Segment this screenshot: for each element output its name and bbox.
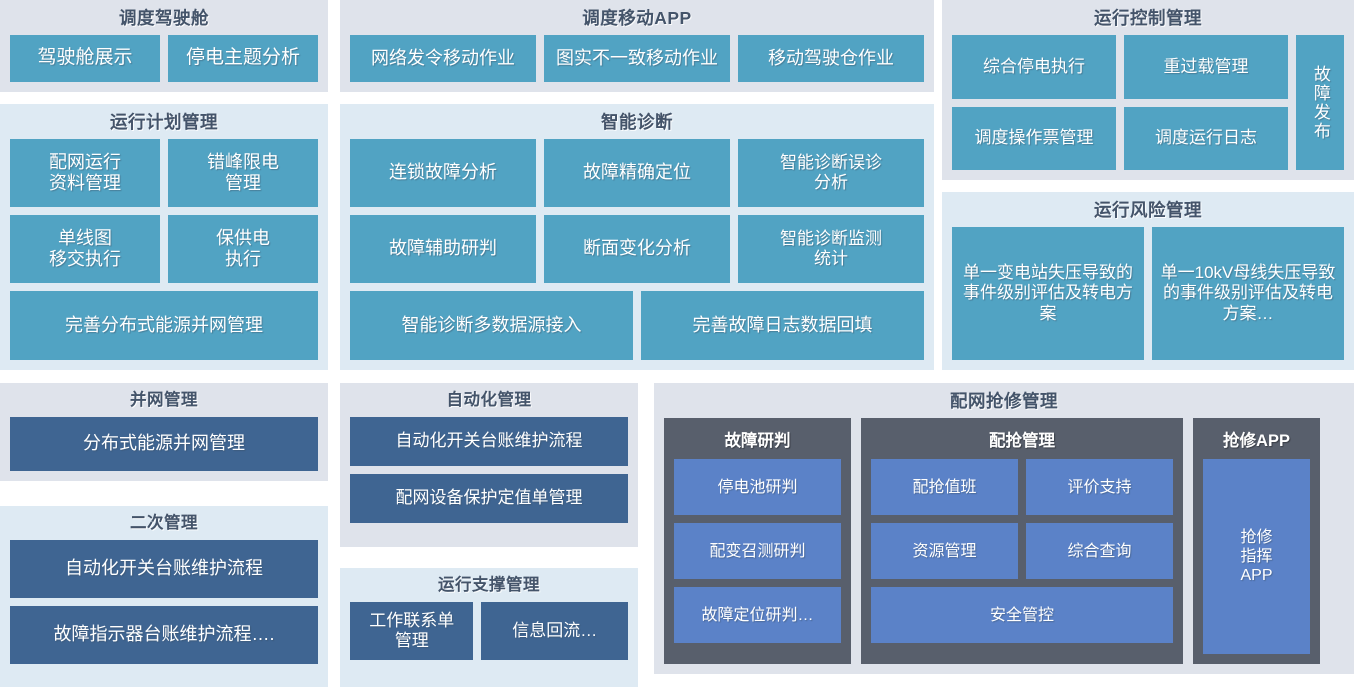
panel-title-operation-support: 运行支撑管理 — [350, 576, 628, 595]
panel-secondary-management: 二次管理 自动化开关台账维护流程 故障指示器台账维护流程…. — [0, 506, 328, 687]
tile-fault-assisted-judgement[interactable]: 故障辅助研判 — [350, 215, 536, 283]
subpanel-repair-app: 抢修APP 抢修 指挥 APP — [1193, 418, 1320, 664]
tile-smart-diagnosis-misdiagnosis-analysis[interactable]: 智能诊断误诊 分析 — [738, 139, 924, 207]
tile-information-backflow[interactable]: 信息回流… — [481, 602, 628, 660]
tile-mobile-cockpit-work[interactable]: 移动驾驶仓作业 — [738, 35, 924, 82]
subpanel-fault-analysis: 故障研判 停电池研判 配变召测研判 故障定位研判… — [664, 418, 851, 664]
tile-comprehensive-query[interactable]: 综合查询 — [1026, 523, 1173, 579]
tile-auto-switch-ledger-maintenance-process[interactable]: 自动化开关台账维护流程 — [350, 417, 628, 466]
tile-repair-command-app[interactable]: 抢修 指挥 APP — [1203, 459, 1310, 654]
subpanel-title-fault-analysis: 故障研判 — [674, 427, 841, 451]
tile-fault-location-judgement[interactable]: 故障定位研判… — [674, 587, 841, 643]
tile-precise-fault-location[interactable]: 故障精确定位 — [544, 139, 730, 207]
tile-outage-pool-judgement[interactable]: 停电池研判 — [674, 459, 841, 515]
tile-fault-release[interactable]: 故障发布 — [1296, 35, 1344, 170]
panel-title-operation-risk: 运行风险管理 — [952, 200, 1344, 220]
panel-title-dispatch-mobile-app: 调度移动APP — [350, 8, 924, 28]
tile-automation-switch-ledger-maintenance-process[interactable]: 自动化开关台账维护流程 — [10, 540, 318, 598]
tile-cascading-fault-analysis[interactable]: 连锁故障分析 — [350, 139, 536, 207]
tile-single-line-diagram-handover[interactable]: 单线图 移交执行 — [10, 215, 160, 283]
tile-resource-management[interactable]: 资源管理 — [871, 523, 1018, 579]
tile-evaluation-support[interactable]: 评价支持 — [1026, 459, 1173, 515]
tile-distribution-operation-data-management[interactable]: 配网运行 资料管理 — [10, 139, 160, 207]
panel-repair-management: 配网抢修管理 故障研判 停电池研判 配变召测研判 故障定位研判… 配抢管理 — [654, 383, 1354, 674]
panel-dispatch-mobile-app: 调度移动APP 网络发令移动作业 图实不一致移动作业 移动驾驶仓作业 — [340, 0, 934, 92]
panel-title-secondary-management: 二次管理 — [10, 514, 318, 533]
tile-dispatch-operation-ticket-management[interactable]: 调度操作票管理 — [952, 107, 1116, 170]
tile-dispatch-operation-log[interactable]: 调度运行日志 — [1124, 107, 1288, 170]
tile-network-order-mobile-work[interactable]: 网络发令移动作业 — [350, 35, 536, 82]
panel-operation-risk: 运行风险管理 单一变电站失压导致的事件级别评估及转电方案 单一10kV母线失压导… — [942, 192, 1354, 370]
tile-distribution-equipment-protection-setting-management[interactable]: 配网设备保护定值单管理 — [350, 474, 628, 523]
panel-dispatch-cockpit: 调度驾驶舱 驾驶舱展示 停电主题分析 — [0, 0, 328, 92]
tile-distributed-energy-grid-management[interactable]: 分布式能源并网管理 — [10, 417, 318, 471]
panel-operation-support: 运行支撑管理 工作联系单 管理 信息回流… — [340, 568, 638, 687]
tile-10kv-busbar-voltage-loss-event-assessment[interactable]: 单一10kV母线失压导致的事件级别评估及转电方案… — [1152, 227, 1344, 360]
subpanel-title-repair-app: 抢修APP — [1203, 427, 1310, 451]
subpanel-repair-dispatch: 配抢管理 配抢值班 评价支持 资源管理 综合查询 安全管控 — [861, 418, 1183, 664]
tile-improve-distributed-energy-grid-management[interactable]: 完善分布式能源并网管理 — [10, 291, 318, 360]
tile-outage-theme-analysis[interactable]: 停电主题分析 — [168, 35, 318, 82]
panel-title-dispatch-cockpit: 调度驾驶舱 — [10, 8, 318, 28]
panel-grid-connection: 并网管理 分布式能源并网管理 — [0, 383, 328, 481]
subpanel-title-repair-dispatch: 配抢管理 — [871, 427, 1173, 451]
panel-automation-management: 自动化管理 自动化开关台账维护流程 配网设备保护定值单管理 — [340, 383, 638, 547]
panel-operation-plan: 运行计划管理 配网运行 资料管理 错峰限电 管理 单线图 移交执行 保供电 执行… — [0, 104, 328, 370]
tile-transformer-polling-judgement[interactable]: 配变召测研判 — [674, 523, 841, 579]
panel-title-repair-management: 配网抢修管理 — [664, 391, 1344, 411]
panel-smart-diagnosis: 智能诊断 连锁故障分析 故障精确定位 智能诊断误诊 分析 故障辅助研判 断面变化… — [340, 104, 934, 370]
tile-cockpit-display[interactable]: 驾驶舱展示 — [10, 35, 160, 82]
tile-fault-indicator-ledger-maintenance-process[interactable]: 故障指示器台账维护流程…. — [10, 606, 318, 664]
panel-title-automation-management: 自动化管理 — [350, 391, 628, 410]
panel-title-operation-plan: 运行计划管理 — [10, 112, 318, 132]
panel-title-operation-control: 运行控制管理 — [952, 8, 1344, 28]
panel-title-smart-diagnosis: 智能诊断 — [350, 112, 924, 132]
architecture-diagram: 调度驾驶舱 驾驶舱展示 停电主题分析 调度移动APP 网络发令移动作业 图实不一… — [0, 0, 1354, 687]
tile-smart-diagnosis-monitoring-statistics[interactable]: 智能诊断监测 统计 — [738, 215, 924, 283]
tile-safety-control[interactable]: 安全管控 — [871, 587, 1173, 643]
tile-overload-management[interactable]: 重过载管理 — [1124, 35, 1288, 98]
tile-graph-reality-mismatch-mobile-work[interactable]: 图实不一致移动作业 — [544, 35, 730, 82]
tile-guaranteed-power-supply-execution[interactable]: 保供电 执行 — [168, 215, 318, 283]
tile-peak-shifting-power-limit-management[interactable]: 错峰限电 管理 — [168, 139, 318, 207]
tile-substation-voltage-loss-event-assessment[interactable]: 单一变电站失压导致的事件级别评估及转电方案 — [952, 227, 1144, 360]
tile-comprehensive-outage-execution[interactable]: 综合停电执行 — [952, 35, 1116, 98]
tile-smart-diagnosis-multi-source-access[interactable]: 智能诊断多数据源接入 — [350, 291, 633, 360]
tile-section-change-analysis[interactable]: 断面变化分析 — [544, 215, 730, 283]
panel-title-grid-connection: 并网管理 — [10, 391, 318, 410]
tile-work-contact-form-management[interactable]: 工作联系单 管理 — [350, 602, 473, 660]
panel-operation-control: 运行控制管理 综合停电执行 调度操作票管理 重过载管理 调度运行日志 故障发布 — [942, 0, 1354, 180]
tile-repair-duty[interactable]: 配抢值班 — [871, 459, 1018, 515]
tile-improve-fault-log-data-backfill[interactable]: 完善故障日志数据回填 — [641, 291, 924, 360]
